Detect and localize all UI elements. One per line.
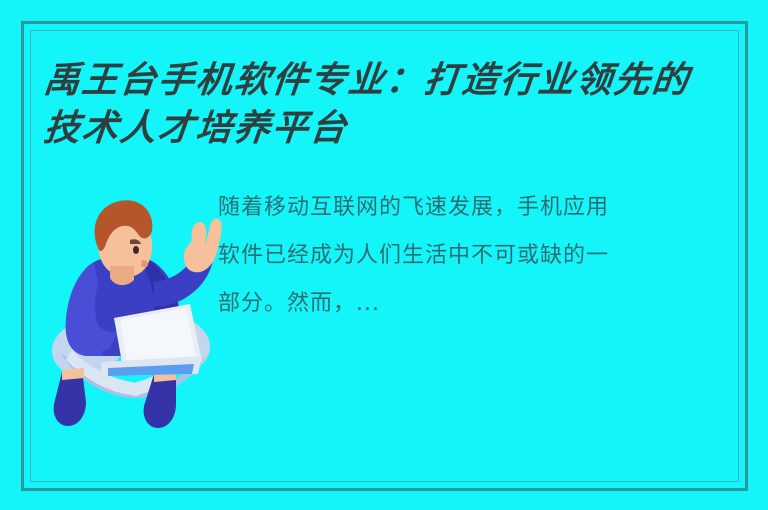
person-sitting-with-laptop-illustration — [42, 196, 222, 428]
body-line-2: 软件已经成为人们生活中不可或缺的一 — [218, 232, 723, 280]
promo-card: 禹王台手机软件专业：打造行业领先的 技术人才培养平台 随着移动互联网的飞速发展，… — [0, 0, 768, 510]
waving-arm-shape — [154, 219, 222, 307]
article-excerpt: 随着移动互联网的飞速发展，手机应用 软件已经成为人们生活中不可或缺的一 部分。然… — [218, 184, 723, 328]
page-title: 禹王台手机软件专业：打造行业领先的 技术人才培养平台 — [44, 56, 734, 152]
title-line-2: 技术人才培养平台 — [41, 104, 736, 152]
body-line-1: 随着移动互联网的飞速发展，手机应用 — [218, 184, 723, 232]
body-line-3: 部分。然而，... — [218, 280, 723, 328]
title-line-1: 禹王台手机软件专业：打造行业领先的 — [41, 56, 736, 104]
shoes-shape — [54, 368, 176, 428]
neck-shape — [110, 266, 134, 285]
